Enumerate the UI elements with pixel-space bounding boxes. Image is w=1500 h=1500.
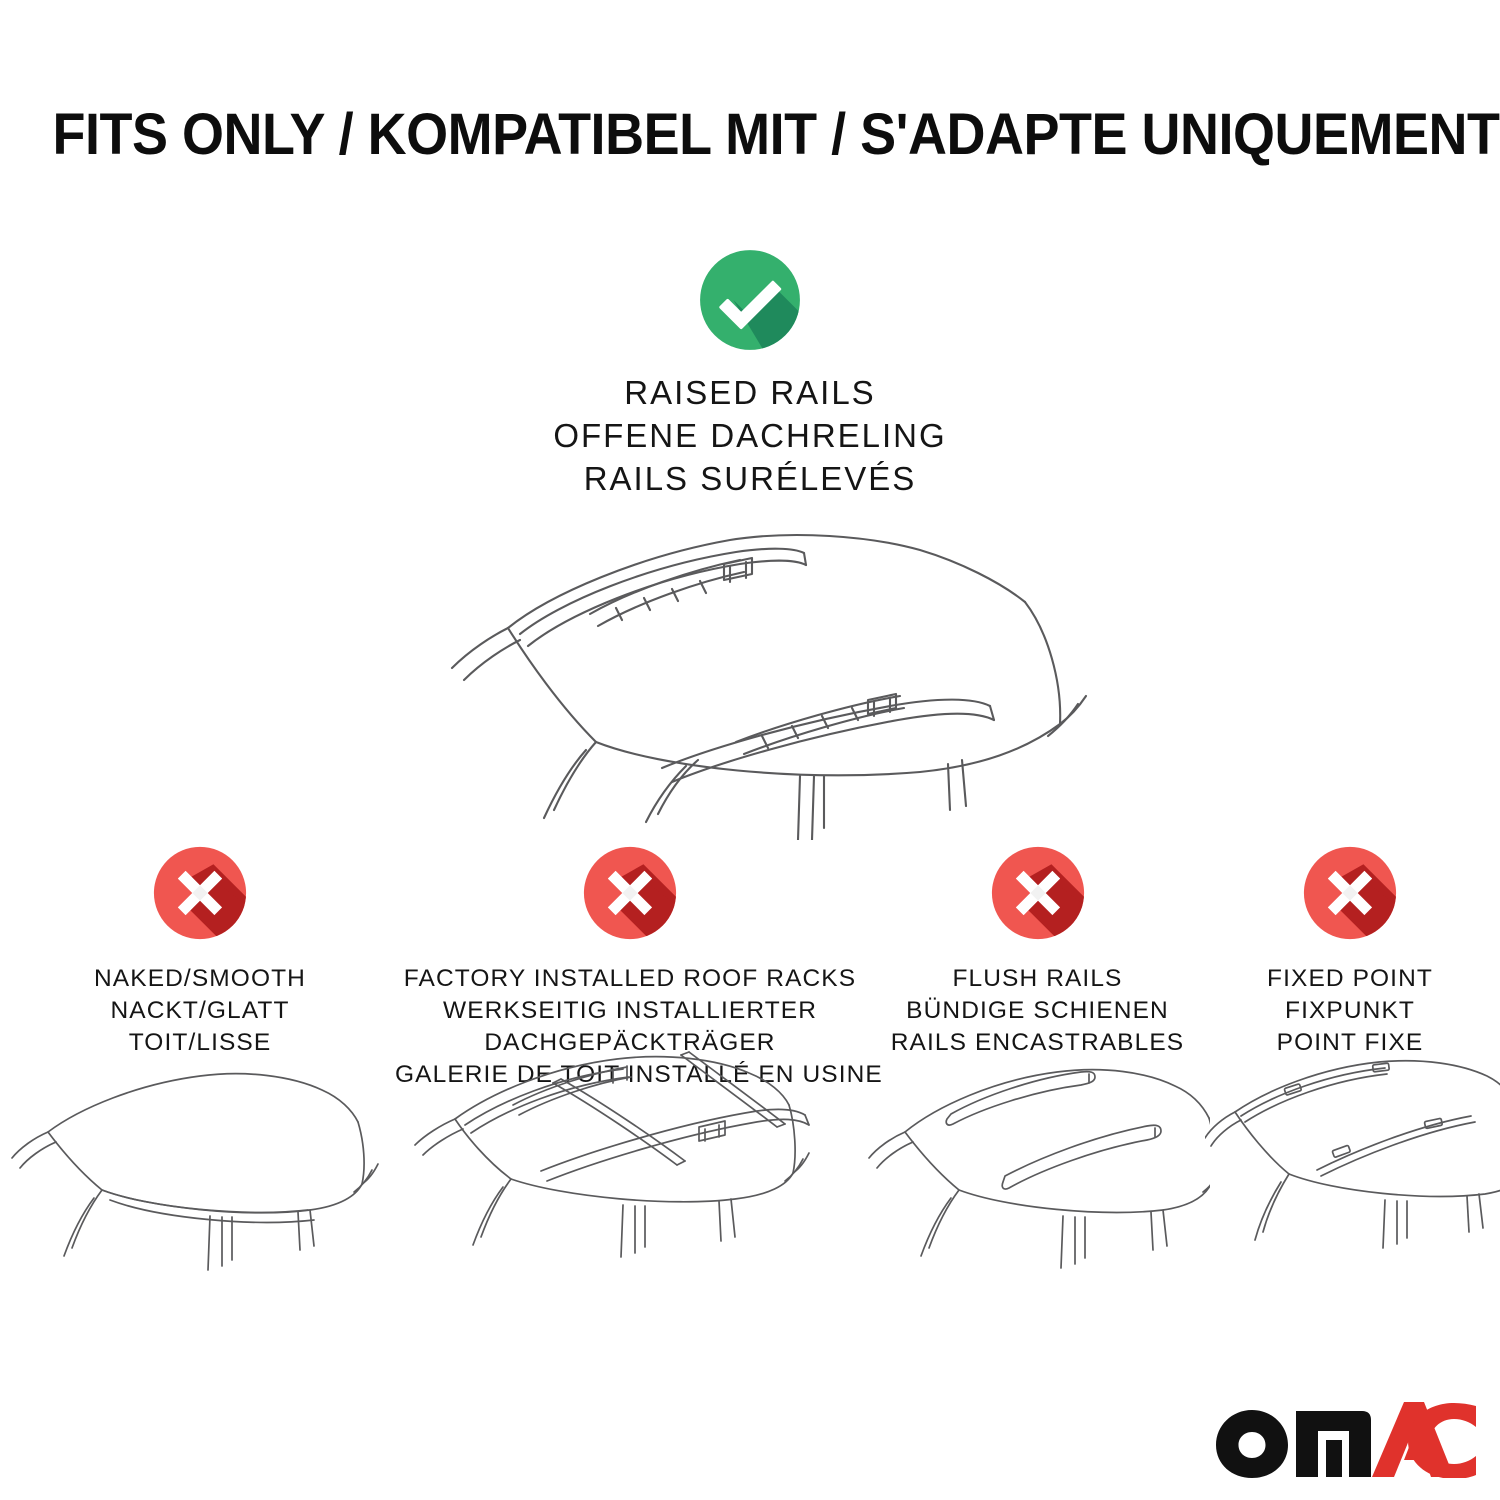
label-line-de: NACKT/GLATT: [10, 995, 390, 1027]
car-roof-with-raised-rails-illustration: [400, 510, 1100, 840]
incompatible-section: NAKED/SMOOTH NACKT/GLATT TOIT/LISSE: [0, 845, 1500, 1465]
car-roof-flush-rails-illustration: [865, 1050, 1210, 1285]
compatible-label-line-en: RAISED RAILS: [0, 372, 1500, 415]
omac-logo: [1208, 1400, 1478, 1478]
label-line-en: NAKED/SMOOTH: [10, 963, 390, 995]
logo-ac-mark: [1372, 1402, 1476, 1478]
incompatible-item-fixed-point: FIXED POINT FIXPUNKT POINT FIXE: [1205, 845, 1495, 1465]
incompatible-item-naked-smooth: NAKED/SMOOTH NACKT/GLATT TOIT/LISSE: [10, 845, 390, 1465]
car-roof-factory-installed-roof-racks-illustration: [395, 1045, 865, 1280]
cross-circle-icon: [582, 845, 678, 941]
compatible-label: RAISED RAILS OFFENE DACHRELING RAILS SUR…: [0, 372, 1500, 501]
incompatible-item-factory-roof-racks: FACTORY INSTALLED ROOF RACKS WERKSEITIG …: [395, 845, 865, 1465]
label-line-de: BÜNDIGE SCHIENEN: [865, 995, 1210, 1027]
incompatible-label: FIXED POINT FIXPUNKT POINT FIXE: [1205, 963, 1495, 1059]
logo-om-mark: [1216, 1410, 1371, 1478]
compatible-label-line-fr: RAILS SURÉLEVÉS: [0, 458, 1500, 501]
incompatible-item-flush-rails: FLUSH RAILS BÜNDIGE SCHIENEN RAILS ENCAS…: [865, 845, 1210, 1465]
car-roof-naked-smooth-illustration: [10, 1050, 390, 1285]
check-circle-icon: [698, 248, 802, 352]
cross-circle-icon: [990, 845, 1086, 941]
incompatible-label: FLUSH RAILS BÜNDIGE SCHIENEN RAILS ENCAS…: [865, 963, 1210, 1059]
cross-circle-icon: [152, 845, 248, 941]
label-line-en: FACTORY INSTALLED ROOF RACKS: [395, 963, 865, 995]
label-line-en: FLUSH RAILS: [865, 963, 1210, 995]
cross-circle-icon: [1302, 845, 1398, 941]
compatible-label-line-de: OFFENE DACHRELING: [0, 415, 1500, 458]
label-line-en: FIXED POINT: [1205, 963, 1495, 995]
label-line-de-1: WERKSEITIG INSTALLIERTER: [395, 995, 865, 1027]
compatible-section: RAISED RAILS OFFENE DACHRELING RAILS SUR…: [0, 248, 1500, 501]
page-title: FITS ONLY / KOMPATIBEL MIT / S'ADAPTE UN…: [53, 106, 1448, 164]
car-roof-fixed-point-illustration: [1205, 1050, 1495, 1285]
label-line-de: FIXPUNKT: [1205, 995, 1495, 1027]
incompatible-label: NAKED/SMOOTH NACKT/GLATT TOIT/LISSE: [10, 963, 390, 1059]
